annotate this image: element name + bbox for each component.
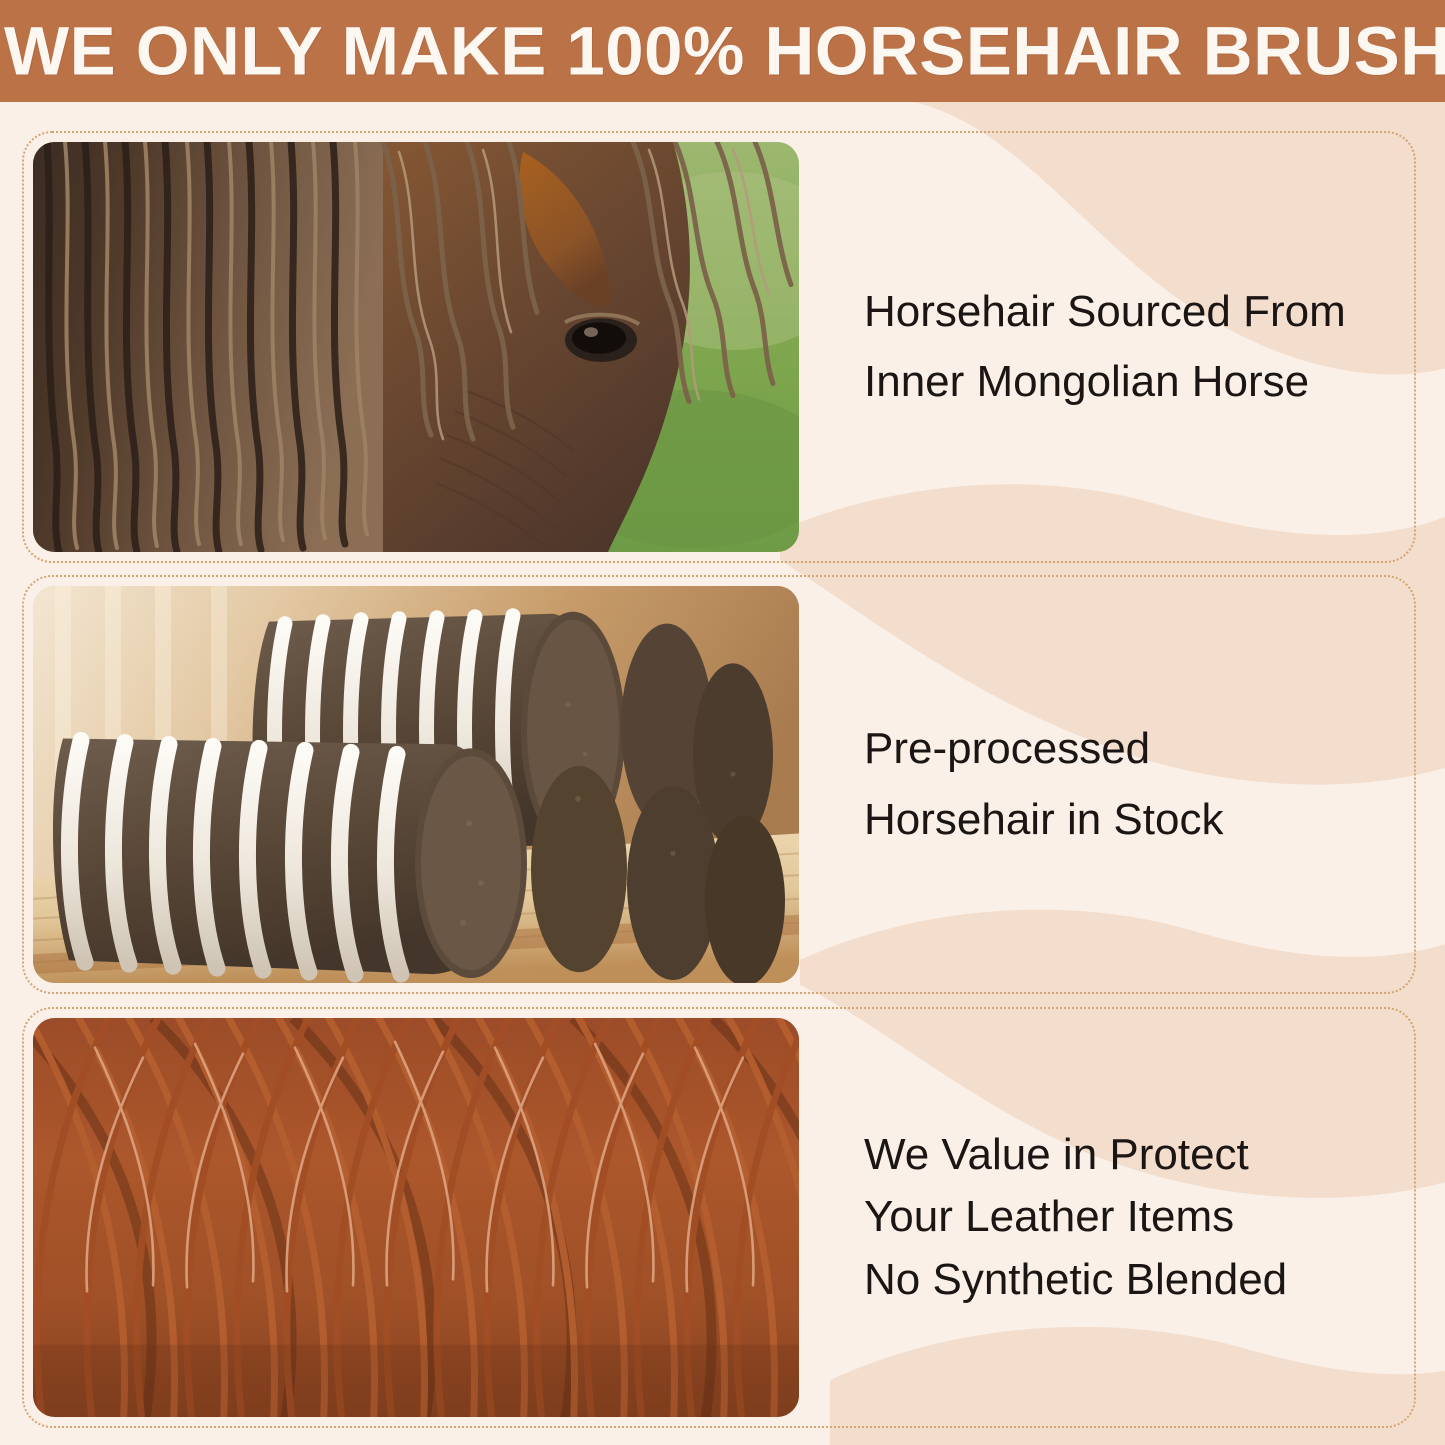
feature-card-horsehair-source: Horsehair Sourced From Inner Mongolian H… bbox=[22, 131, 1416, 563]
feature-line: Pre-processed bbox=[864, 714, 1394, 784]
feature-line: Inner Mongolian Horse bbox=[864, 347, 1394, 417]
feature-line: We Value in Protect bbox=[864, 1124, 1394, 1186]
page-title: WE ONLY MAKE 100% HORSEHAIR BRUSH bbox=[4, 17, 1445, 86]
feature-text-leather-protection: We Value in Protect Your Leather Items N… bbox=[864, 1009, 1394, 1426]
horse-head-photo bbox=[33, 142, 799, 552]
header-banner: WE ONLY MAKE 100% HORSEHAIR BRUSH bbox=[0, 0, 1445, 102]
feature-card-pre-processed-stock: Pre-processed Horsehair in Stock bbox=[22, 575, 1416, 994]
feature-line: No Synthetic Blended bbox=[864, 1249, 1394, 1311]
feature-text-pre-processed-stock: Pre-processed Horsehair in Stock bbox=[864, 577, 1394, 992]
feature-text-horsehair-source: Horsehair Sourced From Inner Mongolian H… bbox=[864, 133, 1394, 561]
feature-card-leather-protection: We Value in Protect Your Leather Items N… bbox=[22, 1007, 1416, 1428]
feature-line: Horsehair in Stock bbox=[864, 785, 1394, 855]
horsehair-bundles-photo bbox=[33, 586, 799, 983]
bristle-filaments-photo bbox=[33, 1018, 799, 1417]
feature-line: Your Leather Items bbox=[864, 1186, 1394, 1248]
feature-line: Horsehair Sourced From bbox=[864, 277, 1394, 347]
